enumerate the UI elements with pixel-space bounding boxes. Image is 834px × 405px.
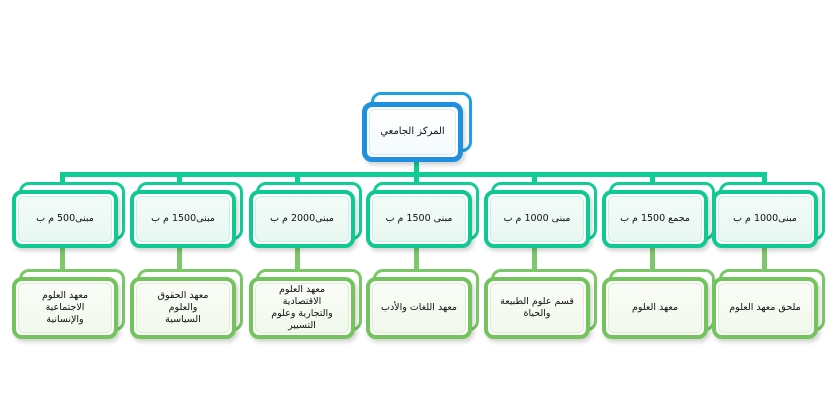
- node-tier3-6[interactable]: معهد العلوم: [602, 269, 715, 339]
- node-label: معهد اللغات والأدب: [376, 302, 462, 314]
- node-tier2-2[interactable]: مبنى1500 م ب: [130, 182, 243, 248]
- node-label: مبنى1000 م ب: [728, 213, 802, 225]
- card-inner-pane: مبنى1500 م ب: [136, 196, 230, 242]
- card-front-layer: معهد الحقوق والعلوم السياسية: [130, 277, 236, 339]
- node-tier2-3[interactable]: مبنى2000 م ب: [249, 182, 362, 248]
- card-inner-pane: مبنى2000 م ب: [255, 196, 349, 242]
- node-label: قسم علوم الطبيعة والحياة: [495, 296, 579, 320]
- node-tier3-3[interactable]: معهد العلوم الاقتصادية والتجارية وعلوم ا…: [249, 269, 362, 339]
- card-inner-pane: ملحق معهد العلوم: [718, 283, 812, 333]
- card-front-layer: مبنى 1500 م ب: [366, 190, 472, 248]
- card-inner-pane: معهد العلوم: [608, 283, 702, 333]
- node-tier3-5[interactable]: قسم علوم الطبيعة والحياة: [484, 269, 597, 339]
- connector-tier2-to-tier3-5: [532, 247, 537, 269]
- node-tier3-2[interactable]: معهد الحقوق والعلوم السياسية: [130, 269, 243, 339]
- card-inner-pane: مبنى500 م ب: [18, 196, 112, 242]
- card-inner-pane: مجمع 1500 م ب: [608, 196, 702, 242]
- node-label: مبنى2000 م ب: [265, 213, 339, 225]
- connector-tier2-to-tier3-4: [414, 247, 419, 269]
- node-tier3-4[interactable]: معهد اللغات والأدب: [366, 269, 479, 339]
- card-inner-pane: المركز الجامعي: [369, 109, 456, 155]
- card-inner-pane: معهد العلوم الاقتصادية والتجارية وعلوم ا…: [255, 283, 349, 333]
- connector-tier2-to-tier3-7: [762, 247, 767, 269]
- card-front-layer: مبنى 1000 م ب: [484, 190, 590, 248]
- card-front-layer: معهد العلوم: [602, 277, 708, 339]
- node-label: معهد العلوم الاقتصادية والتجارية وعلوم ا…: [256, 284, 348, 332]
- card-front-layer: مبنى1500 م ب: [130, 190, 236, 248]
- node-label: مجمع 1500 م ب: [615, 213, 695, 225]
- card-front-layer: قسم علوم الطبيعة والحياة: [484, 277, 590, 339]
- node-label: معهد العلوم: [627, 302, 683, 314]
- node-label: معهد العلوم الاجتماعية والإنسانية: [19, 290, 111, 326]
- node-label: معهد الحقوق والعلوم السياسية: [137, 290, 229, 326]
- card-inner-pane: معهد اللغات والأدب: [372, 283, 466, 333]
- node-label: ملحق معهد العلوم: [724, 302, 805, 314]
- card-inner-pane: معهد العلوم الاجتماعية والإنسانية: [18, 283, 112, 333]
- node-root-university-center[interactable]: المركز الجامعي: [362, 92, 472, 162]
- card-inner-pane: قسم علوم الطبيعة والحياة: [490, 283, 584, 333]
- node-label: مبنى 1000 م ب: [499, 213, 576, 225]
- node-tier2-6[interactable]: مجمع 1500 م ب: [602, 182, 715, 248]
- connector-tier2-to-tier3-1: [60, 247, 65, 269]
- card-front-layer: مبنى1000 م ب: [712, 190, 818, 248]
- card-front-layer: معهد العلوم الاقتصادية والتجارية وعلوم ا…: [249, 277, 355, 339]
- node-tier2-1[interactable]: مبنى500 م ب: [12, 182, 125, 248]
- card-front-layer: مبنى2000 م ب: [249, 190, 355, 248]
- card-inner-pane: مبنى 1000 م ب: [490, 196, 584, 242]
- connector-tier2-to-tier3-6: [650, 247, 655, 269]
- connector-tier2-to-tier3-3: [295, 247, 300, 269]
- org-chart-canvas: المركز الجامعي مبنى500 م ب مبنى1500 م ب …: [0, 0, 834, 405]
- card-inner-pane: مبنى 1500 م ب: [372, 196, 466, 242]
- card-front-layer: مبنى500 م ب: [12, 190, 118, 248]
- node-label: مبنى1500 م ب: [146, 213, 220, 225]
- node-label: مبنى500 م ب: [31, 213, 99, 225]
- card-front-layer: معهد اللغات والأدب: [366, 277, 472, 339]
- node-tier3-1[interactable]: معهد العلوم الاجتماعية والإنسانية: [12, 269, 125, 339]
- card-front-layer: معهد العلوم الاجتماعية والإنسانية: [12, 277, 118, 339]
- connector-tier2-to-tier3-2: [177, 247, 182, 269]
- node-tier2-5[interactable]: مبنى 1000 م ب: [484, 182, 597, 248]
- card-inner-pane: معهد الحقوق والعلوم السياسية: [136, 283, 230, 333]
- node-label: مبنى 1500 م ب: [381, 213, 458, 225]
- node-tier3-7[interactable]: ملحق معهد العلوم: [712, 269, 825, 339]
- node-tier2-7[interactable]: مبنى1000 م ب: [712, 182, 825, 248]
- card-front-layer: مجمع 1500 م ب: [602, 190, 708, 248]
- card-front-layer: ملحق معهد العلوم: [712, 277, 818, 339]
- node-tier2-4[interactable]: مبنى 1500 م ب: [366, 182, 479, 248]
- card-inner-pane: مبنى1000 م ب: [718, 196, 812, 242]
- card-front-layer: المركز الجامعي: [362, 102, 463, 162]
- node-label: المركز الجامعي: [375, 126, 449, 138]
